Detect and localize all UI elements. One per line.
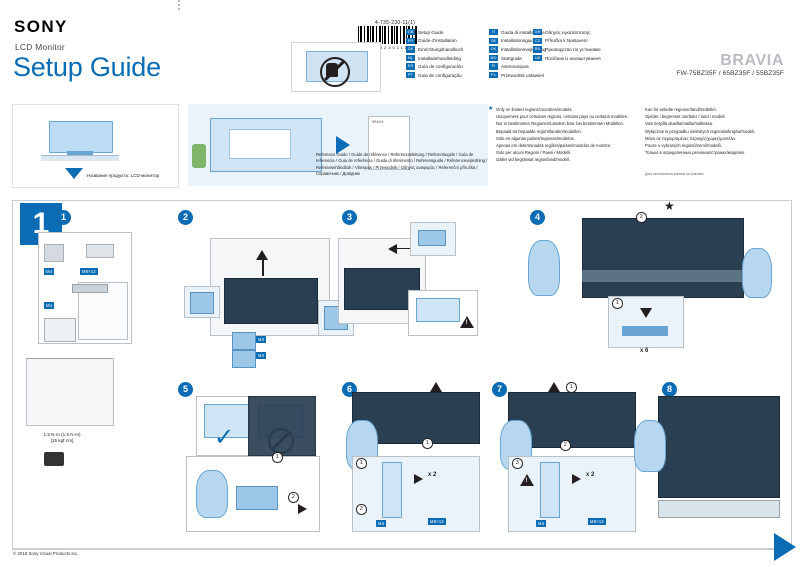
region-note: Pouze u vybraných regionů/zemí/modelů.: [645, 142, 795, 149]
language-tag: NL: [406, 55, 415, 61]
screw-label-m4-step2b: M4: [256, 352, 266, 359]
person-graphic-right: [742, 248, 772, 298]
detail-marker-step6-a: 1: [422, 438, 433, 449]
screw-label-step7-m6x12: M6×12: [588, 518, 606, 525]
star-marker-icon: ★: [664, 200, 675, 212]
screw-label-step6-m6x12: M6×12: [428, 518, 446, 525]
monitor-screen-inner: [229, 129, 291, 159]
step-number-3: 3: [342, 210, 357, 225]
setup-guide-page: SONY LCD Monitor Setup Guide BRAVIA FW-7…: [0, 0, 802, 567]
product-name-note: Название продукта: LCD-монитор: [87, 173, 159, 178]
region-note: Only on limited regions/countries/models…: [496, 106, 641, 113]
step8-base-graphic: [658, 500, 780, 518]
no-touch-illustration: [291, 42, 381, 92]
detail-marker-step5-1: 1: [272, 452, 283, 463]
step5-monitor-graphic: [248, 396, 316, 456]
qty-label-step6: x 2: [428, 472, 436, 478]
monitor-graphic: [49, 121, 113, 153]
region-note: Wyłącznie w przypadku niektórych regionó…: [645, 128, 795, 135]
star-icon: ★: [488, 106, 493, 113]
screw-label-m4: M4: [44, 268, 54, 275]
screw-label-m6x12: M6×12: [80, 268, 98, 275]
detail-marker-step5-2: 2: [288, 492, 299, 503]
footer-divider: [12, 548, 790, 549]
page-title: Setup Guide: [13, 52, 161, 83]
language-label: Asennusopas: [501, 64, 529, 69]
step-number-4: 4: [530, 210, 545, 225]
lift-arrow-step6: [430, 382, 442, 392]
language-tag: PT: [406, 72, 415, 78]
language-tag: RU: [533, 46, 542, 52]
bracket-part-graphic: [44, 244, 64, 262]
product-line-label: LCD Monitor: [15, 42, 65, 52]
region-note: Nur in bestimmten Regionen/Ländern bzw. …: [496, 120, 641, 127]
step2-bracket-b: [232, 350, 256, 368]
check-icon: ✓: [214, 426, 234, 450]
language-tag: CZ: [533, 38, 542, 44]
language-tag: GB: [406, 29, 415, 35]
region-notes-column-1: ★ Only on limited regions/countries/mode…: [496, 106, 641, 164]
person-graphic-left: [528, 240, 560, 296]
plant-icon: [192, 144, 206, 168]
detail-marker-step7-1: 1: [566, 382, 577, 393]
language-label: Einrichtungshandbuch: [418, 47, 463, 52]
product-name-panel: Название продукта: LCD-монитор: [12, 104, 179, 188]
language-row: RUРуководство по установке: [533, 45, 633, 54]
step4-bracket-graphic: [622, 326, 668, 336]
qty-label-step4: x 6: [640, 348, 648, 354]
language-tag: UA: [533, 55, 542, 61]
language-row: UAПосібник із налаштування: [533, 54, 633, 63]
desk-graphic: [41, 155, 119, 161]
language-row: PTGuia de configuração: [406, 71, 500, 80]
region-note: Solo per alcuni Regioni / Paesi / Modell…: [496, 149, 641, 156]
region-note: Uniquement pour certaines régions, certa…: [496, 113, 641, 120]
step-number-1: 1: [56, 210, 71, 225]
language-row: NLInstallatiehandleiding: [406, 54, 500, 63]
manual-graphic: [44, 318, 76, 342]
crop-mark: [178, 0, 180, 12]
torque-note: 1.5 N·m (1.5 N·m) [15 kgf·cm]: [30, 432, 94, 444]
language-tag: NO: [489, 55, 498, 61]
language-tag: SE: [489, 38, 498, 44]
region-note: Μόνο σε περιορισμένες περιοχές/χώρες/μον…: [645, 135, 795, 142]
language-label: Посібник із налаштування: [545, 56, 601, 61]
carton-edge: [26, 358, 112, 359]
callout-line: [396, 248, 410, 249]
language-label: Příručka k Nastavení: [545, 38, 588, 43]
language-label: Installationsguide: [501, 38, 537, 43]
region-note: Solo en algunas países/regiones/modelos.: [496, 135, 641, 142]
lift-arrow-step7: [548, 382, 560, 392]
language-list-column-3: GRΟδηγός εγκατάστασης CZPříručka k Nasta…: [533, 28, 633, 62]
language-label: Οδηγός εγκατάστασης: [545, 30, 591, 35]
step7-detail-box: [508, 456, 636, 532]
qty-arrow-step6: [414, 474, 423, 484]
step-number-8: 8: [662, 382, 677, 397]
language-label: Przewodnik ustawień: [501, 73, 544, 78]
detail-marker-2: 2: [636, 212, 647, 223]
step-number-5: 5: [178, 382, 193, 397]
sony-logo: SONY: [14, 17, 68, 37]
page-corner-marker: [774, 533, 796, 561]
detail-marker-1: 1: [612, 298, 623, 309]
booklet-title: BRAVIA: [372, 120, 383, 124]
model-numbers: FW-75BZ35F / 65BZ35F / 55BZ35F: [676, 70, 784, 77]
step-number-2: 2: [178, 210, 193, 225]
step3-bracket: [418, 230, 446, 246]
language-row: FRGuide d'installation: [406, 37, 500, 46]
copyright-text: © 2018 Sony Visual Products Inc.: [13, 551, 78, 556]
language-label: Setup Guide: [418, 30, 444, 35]
language-row: ESGuía de configuración: [406, 62, 500, 71]
step-number-7: 7: [492, 382, 507, 397]
language-label: Guía de configuración: [418, 64, 463, 69]
series-label: BRAVIA: [720, 52, 784, 70]
screw-label-step6-m4: M4: [376, 520, 386, 527]
step8-monitor-graphic: [658, 396, 780, 498]
language-tag: PL: [489, 72, 498, 78]
screw-label-m4-2: M4: [44, 302, 54, 309]
screw-label-m4-step2: M4: [256, 336, 266, 343]
callout-arrow: [388, 244, 397, 254]
language-tag: FR: [406, 38, 415, 44]
region-notes-column-2: Kun for enkelte regioner/land/modeller. …: [645, 106, 795, 156]
person-graphic-step8: [634, 420, 666, 472]
qty-label-step7: x 2: [586, 472, 594, 478]
lift-arrow-stem: [262, 258, 264, 276]
step2-bracket-a: [232, 332, 256, 350]
stand-part-graphic: [72, 284, 108, 293]
language-label: Guia de configuração: [418, 73, 462, 78]
region-note: Kun for enkelte regioner/land/modeller.: [645, 106, 795, 113]
language-label: Startguide: [501, 56, 522, 61]
screw-bag-graphic: [86, 244, 114, 258]
warning-icon-step3: [460, 316, 474, 328]
monitor-on-stand-graphic: [41, 121, 119, 161]
region-note: Vain tietyillä alueilla/mailla/malleissa…: [645, 120, 795, 127]
region-note: Gjelder i begrenset områder / land / mod…: [645, 113, 795, 120]
warning-icon-step7: [520, 474, 534, 486]
screwdriver-icon: [44, 452, 64, 466]
detail-marker-step6-2: 2: [356, 504, 367, 515]
language-row: FIAsennusopas: [489, 62, 583, 71]
language-tag: DK: [489, 46, 498, 52]
step2-monitor-graphic: [224, 278, 318, 324]
region-note: Bepaald tot bepaalde regio's/landen/mode…: [496, 128, 641, 135]
language-row: DEEinrichtungshandbuch: [406, 45, 500, 54]
language-tag: DE: [406, 46, 415, 52]
step6-detail-box: [352, 456, 480, 532]
step2-bracket-d: [190, 292, 214, 314]
language-label: Руководство по установке: [545, 47, 601, 52]
region-note: Apenas em determinadas regiões/países/mo…: [496, 142, 641, 149]
detail-marker-step7-3: 3: [512, 458, 523, 469]
qty-arrow-step7: [572, 474, 581, 484]
down-arrow-icon: [65, 168, 83, 179]
insert-arrow-icon: [640, 308, 652, 318]
wall-monitor-graphic: [210, 118, 322, 172]
screw-label-step7-m4: M4: [536, 520, 546, 527]
step4-strap-graphic: [582, 270, 742, 282]
detail-marker-step7-2: 2: [560, 440, 571, 451]
reference-guide-languages: Reference Guide / Guide de référence / R…: [316, 152, 488, 178]
language-tag: GR: [533, 29, 542, 35]
step1-carton-graphic: [26, 358, 114, 426]
language-row: CZPříručka k Nastavení: [533, 37, 633, 46]
step4-monitor-graphic: [582, 218, 744, 298]
push-arrow-icon: [298, 504, 307, 514]
step6-stand-graphic: [382, 462, 402, 518]
language-tag: ES: [406, 63, 415, 69]
language-tag: FI: [489, 63, 498, 69]
prohibited-icon: [320, 57, 350, 87]
language-label: Guide d'installation: [418, 38, 457, 43]
language-row: PLPrzewodnik ustawień: [489, 71, 583, 80]
language-label: Installatiehandleiding: [418, 56, 461, 61]
language-row: GBSetup Guide: [406, 28, 500, 37]
region-note: Только в определенных регионах/странах/м…: [645, 149, 795, 156]
language-row: GRΟδηγός εγκατάστασης: [533, 28, 633, 37]
step5-bracket-graphic: [236, 486, 278, 510]
detail-marker-step6-1: 1: [356, 458, 367, 469]
language-list-column-1: GBSetup Guide FRGuide d'installation DEE…: [406, 28, 500, 80]
language-tag: IT: [489, 29, 498, 35]
step7-stand-graphic: [540, 462, 560, 518]
person-graphic-step5: [196, 470, 228, 518]
manufacture-date-note: Дата изготовления указана на упаковке: [645, 172, 795, 176]
step3-panel-graphic: [416, 298, 460, 322]
region-note: Gäller vid begränsat region/land/modell.: [496, 156, 641, 163]
